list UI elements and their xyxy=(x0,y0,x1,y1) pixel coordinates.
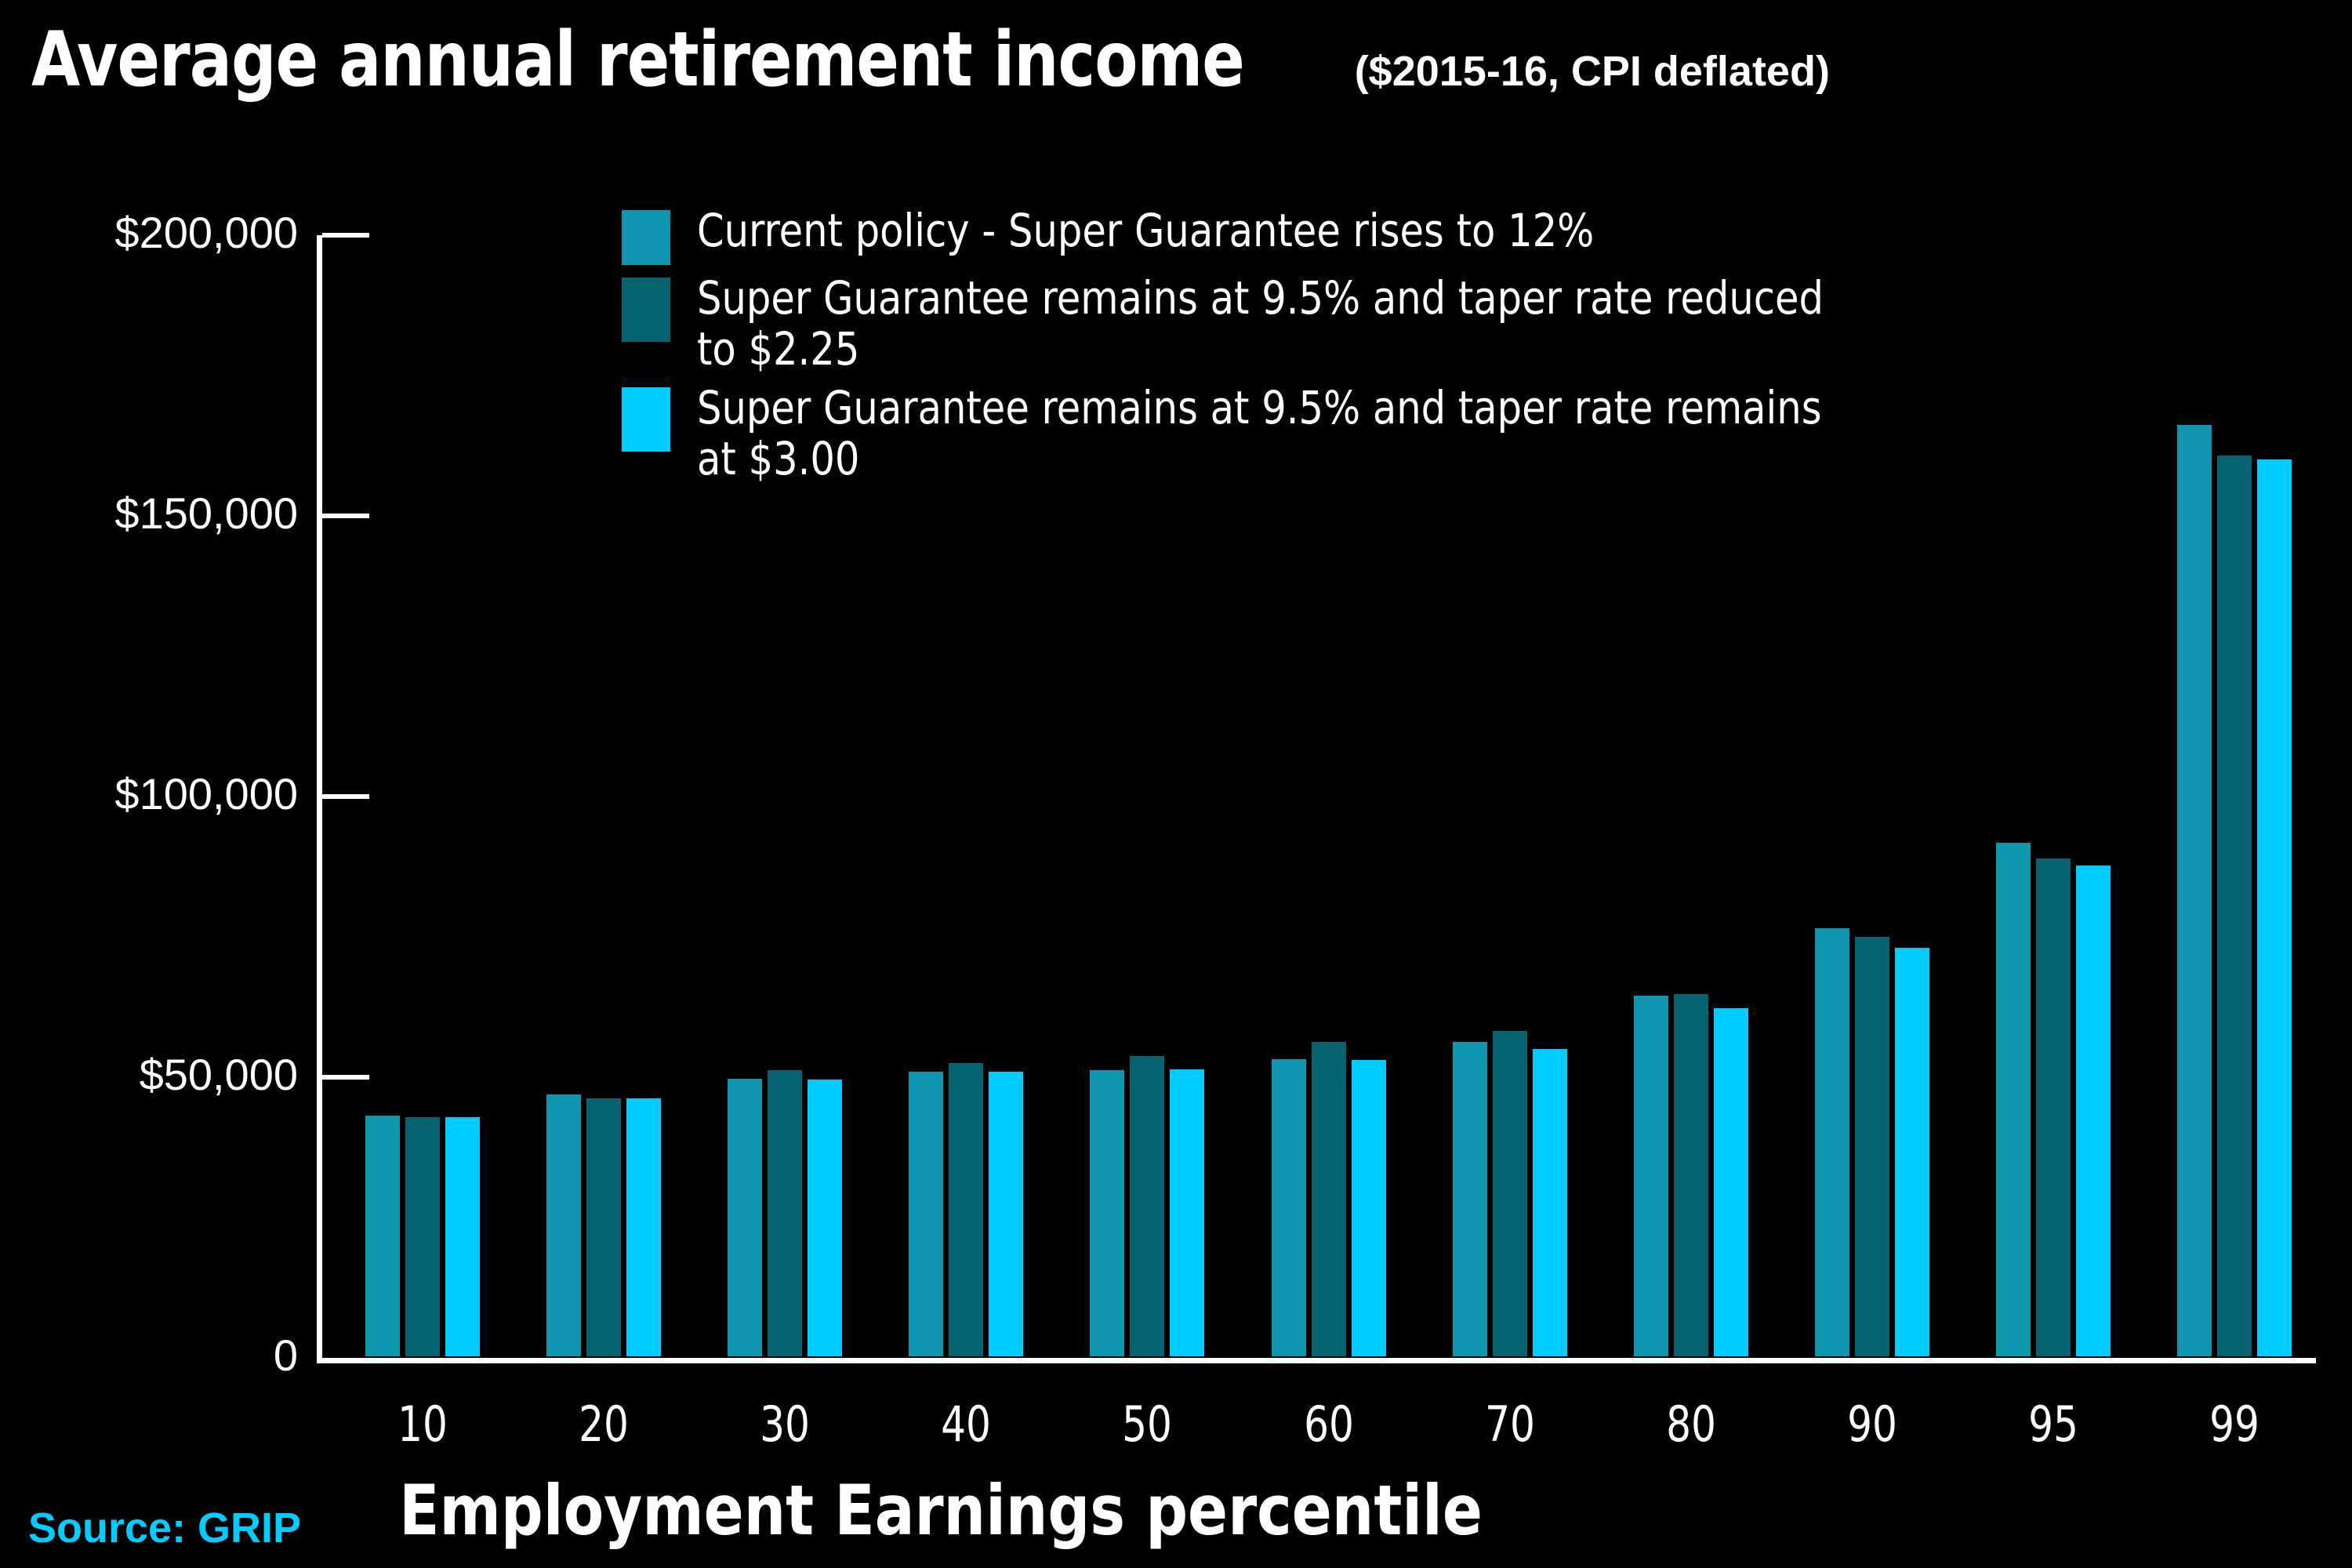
x-axis-tick-label: 80 xyxy=(1666,1396,1716,1453)
x-axis-labels: 1020304050607080909599 xyxy=(322,1396,2316,1458)
legend-color-swatch xyxy=(622,210,670,265)
y-axis-line xyxy=(317,235,322,1358)
y-axis-tick-label: $100,000 xyxy=(114,768,298,819)
bar[interactable] xyxy=(1893,946,1931,1358)
bar-group xyxy=(2176,235,2293,1358)
y-axis-tick-label: $200,000 xyxy=(114,207,298,258)
bar[interactable] xyxy=(1632,994,1670,1358)
x-axis-tick-label: 30 xyxy=(760,1396,810,1453)
bar[interactable] xyxy=(2034,857,2072,1358)
y-axis-tick-label: $50,000 xyxy=(140,1049,298,1100)
chart-title-block: Average annual retirement income ($2015-… xyxy=(31,22,1830,97)
x-axis-tick-label: 40 xyxy=(941,1396,991,1453)
legend-color-swatch xyxy=(622,278,670,342)
bar[interactable] xyxy=(1672,993,1710,1358)
x-axis-title: Employment Earnings percentile xyxy=(47,1470,1835,1551)
bar[interactable] xyxy=(1451,1040,1489,1358)
chart-legend: Current policy - Super Guarantee rises t… xyxy=(622,205,2033,492)
bar[interactable] xyxy=(1813,927,1851,1358)
x-axis-tick-label: 95 xyxy=(2028,1396,2078,1453)
x-axis-tick-label: 20 xyxy=(579,1396,629,1453)
bar[interactable] xyxy=(1168,1068,1206,1358)
bar[interactable] xyxy=(1088,1069,1126,1358)
x-axis-tick-label: 10 xyxy=(397,1396,448,1453)
x-axis-tick-label: 60 xyxy=(1304,1396,1354,1453)
chart-subtitle: ($2015-16, CPI deflated) xyxy=(1355,47,1830,96)
bar[interactable] xyxy=(907,1070,945,1358)
bar[interactable] xyxy=(585,1097,622,1358)
x-axis-tick-label: 99 xyxy=(2209,1396,2259,1453)
bar[interactable] xyxy=(1491,1029,1529,1358)
bar[interactable] xyxy=(444,1116,481,1358)
bar[interactable] xyxy=(625,1097,662,1358)
x-axis-tick-label: 90 xyxy=(1847,1396,1897,1453)
source-note: Source: GRIP xyxy=(28,1504,301,1552)
bar[interactable] xyxy=(987,1070,1025,1358)
bar[interactable] xyxy=(364,1114,401,1358)
x-axis-tick-label: 50 xyxy=(1122,1396,1172,1453)
bar[interactable] xyxy=(2176,423,2213,1358)
bar[interactable] xyxy=(726,1077,764,1358)
bar[interactable] xyxy=(2216,454,2253,1358)
bar[interactable] xyxy=(1270,1058,1308,1358)
legend-color-swatch xyxy=(622,387,670,452)
bar[interactable] xyxy=(404,1116,441,1358)
legend-item-label: Current policy - Super Guarantee rises t… xyxy=(697,205,1889,256)
legend-item-label: Super Guarantee remains at 9.5% and tape… xyxy=(697,383,1859,485)
bar[interactable] xyxy=(1310,1040,1348,1358)
y-axis-tick-label: 0 xyxy=(274,1330,298,1381)
bar[interactable] xyxy=(1853,935,1891,1358)
bar[interactable] xyxy=(1712,1007,1750,1358)
bar[interactable] xyxy=(2074,864,2112,1358)
x-axis-line xyxy=(317,1358,2316,1363)
bar[interactable] xyxy=(766,1069,804,1358)
bar[interactable] xyxy=(1350,1058,1388,1358)
y-axis-labels: 0$50,000$100,000$150,000$200,000 xyxy=(0,235,298,1358)
bar[interactable] xyxy=(1128,1054,1166,1358)
legend-item[interactable]: Super Guarantee remains at 9.5% and tape… xyxy=(622,383,2033,485)
bar[interactable] xyxy=(947,1062,985,1358)
bar[interactable] xyxy=(545,1093,583,1358)
bar[interactable] xyxy=(1531,1047,1569,1358)
bar[interactable] xyxy=(806,1078,844,1358)
y-axis-tick-label: $150,000 xyxy=(114,488,298,539)
bar[interactable] xyxy=(1994,841,2032,1358)
bar[interactable] xyxy=(2256,458,2293,1358)
legend-item[interactable]: Current policy - Super Guarantee rises t… xyxy=(622,205,2033,265)
legend-item[interactable]: Super Guarantee remains at 9.5% and tape… xyxy=(622,273,2033,375)
page-title: Average annual retirement income xyxy=(31,22,1244,97)
x-axis-tick-label: 70 xyxy=(1485,1396,1535,1453)
bar-group xyxy=(364,235,481,1358)
legend-item-label: Super Guarantee remains at 9.5% and tape… xyxy=(697,273,1859,375)
